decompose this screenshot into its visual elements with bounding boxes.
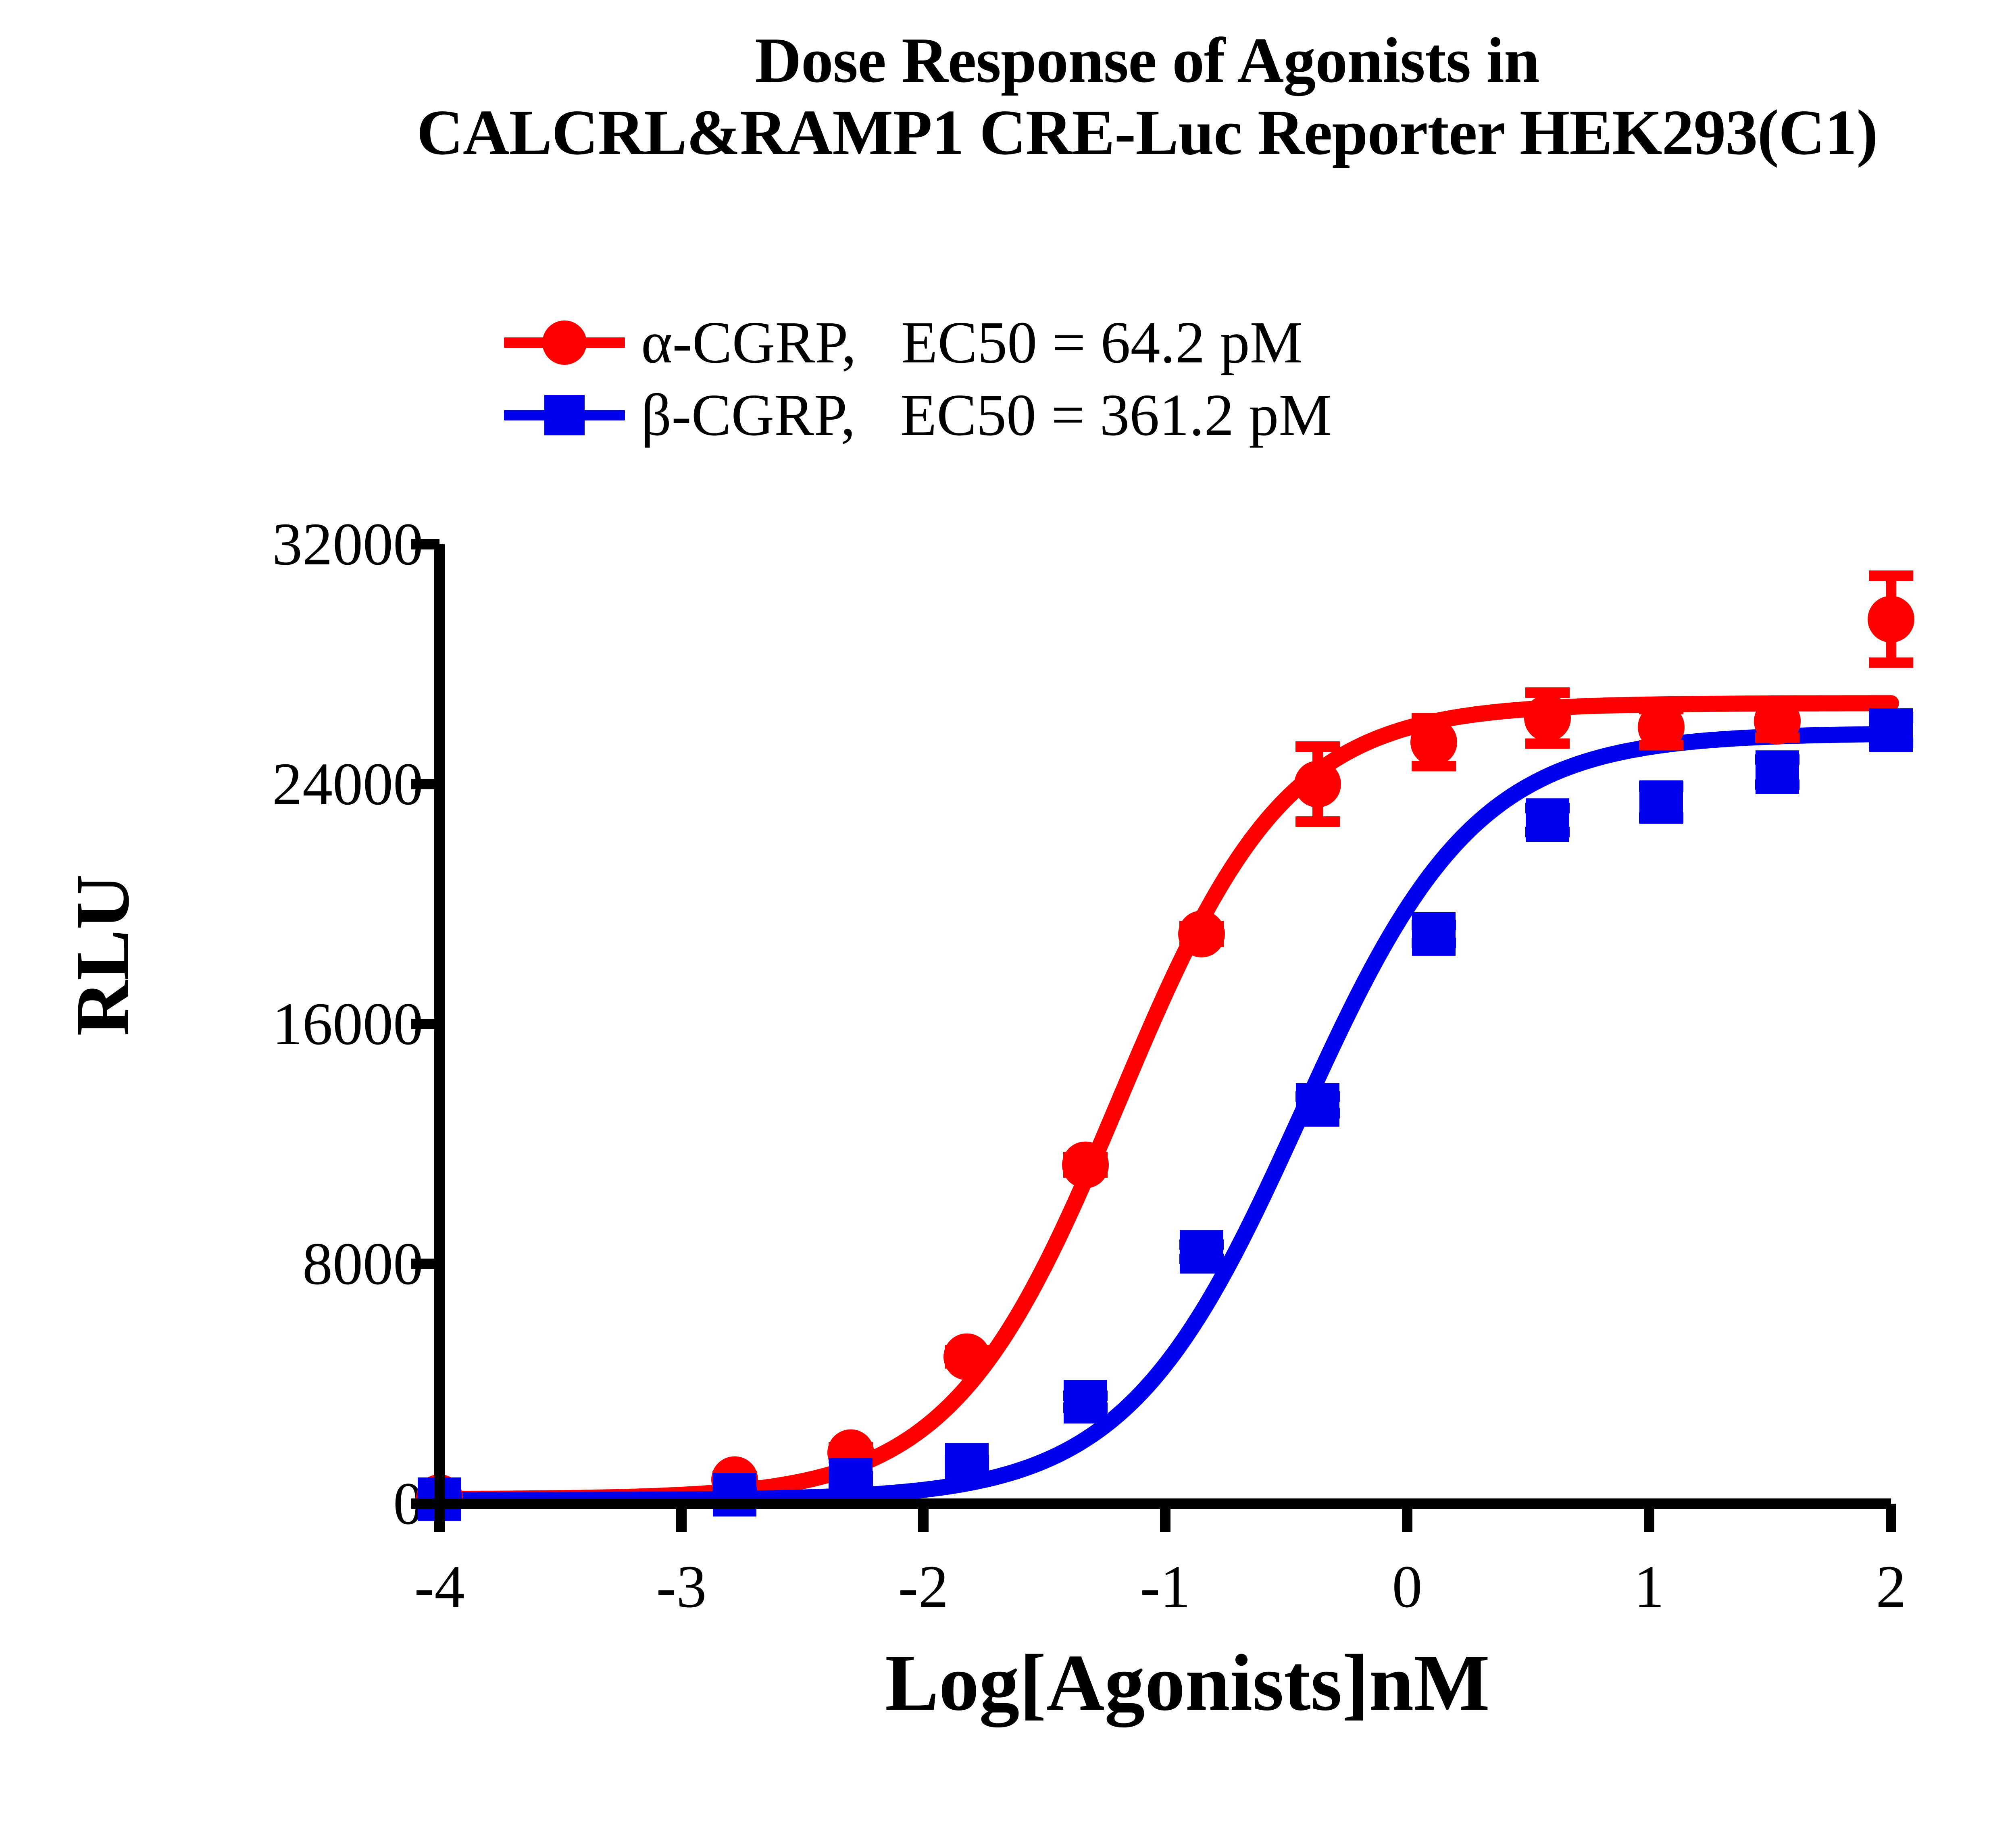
data-point-marker bbox=[1756, 750, 1799, 794]
data-point-marker bbox=[1180, 1230, 1223, 1273]
data-point-marker bbox=[1294, 761, 1341, 807]
data-point-marker bbox=[1639, 780, 1683, 824]
data-point-marker bbox=[1638, 704, 1685, 751]
data-point-marker bbox=[1296, 1083, 1339, 1127]
plot-area bbox=[0, 0, 2016, 1827]
data-point-marker bbox=[1412, 912, 1456, 956]
data-point-marker bbox=[1178, 911, 1225, 957]
data-point-marker bbox=[713, 1473, 756, 1517]
data-point-marker bbox=[1064, 1380, 1107, 1423]
data-point-marker bbox=[1754, 698, 1801, 745]
data-point-marker bbox=[829, 1458, 873, 1502]
data-point-marker bbox=[1524, 695, 1571, 741]
data-point-marker bbox=[1062, 1142, 1109, 1188]
data-point-marker bbox=[945, 1443, 989, 1486]
data-point-marker bbox=[1410, 719, 1457, 766]
series-alpha-cgrp bbox=[416, 576, 1914, 1521]
data-point-marker bbox=[943, 1334, 990, 1380]
fit-curve-beta-cgrp bbox=[439, 734, 1891, 1500]
data-point-marker bbox=[1526, 798, 1569, 842]
data-point-marker bbox=[1868, 596, 1914, 643]
chart-figure: Dose Response of Agonists in CALCRL&RAMP… bbox=[0, 0, 2016, 1827]
series-beta-cgrp bbox=[417, 708, 1913, 1521]
data-point-marker bbox=[1869, 708, 1913, 752]
